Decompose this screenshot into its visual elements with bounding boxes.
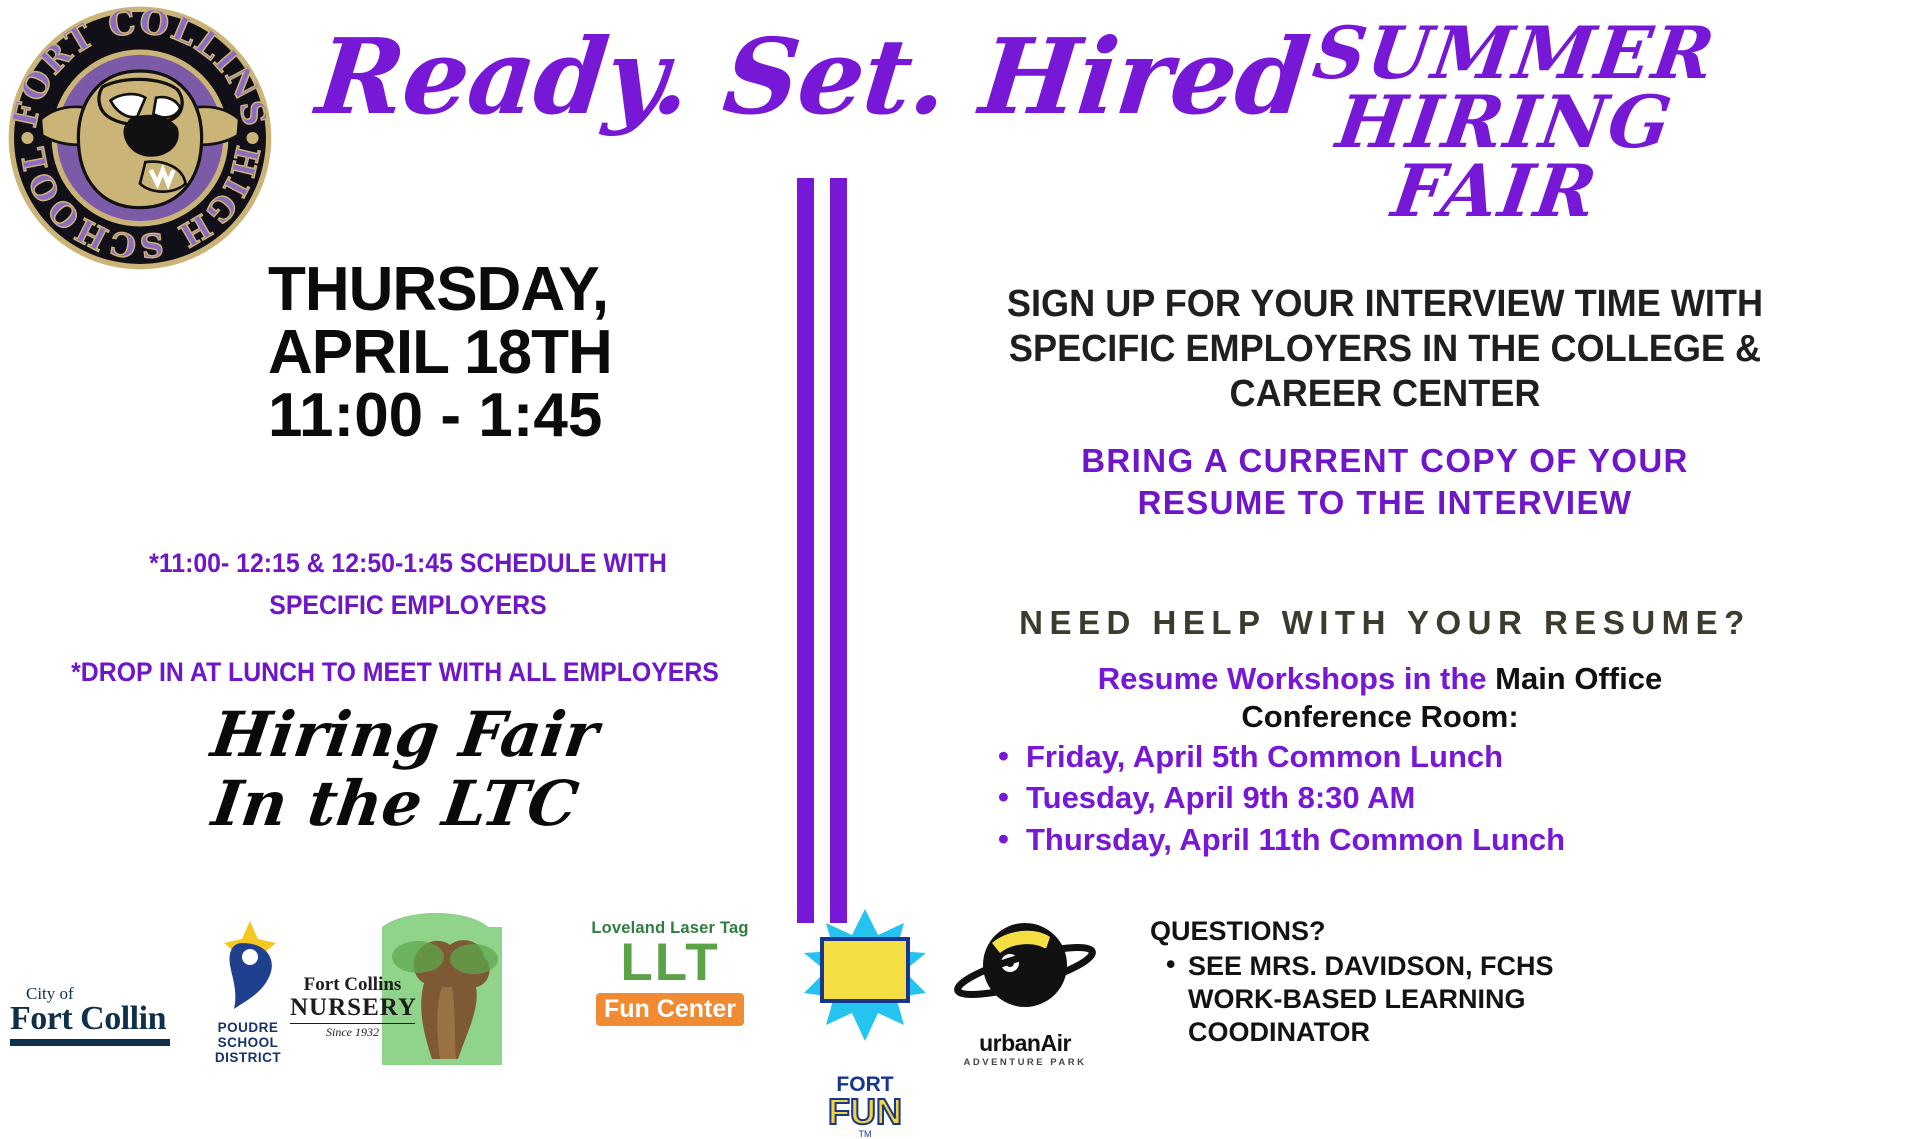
city-of-fort-collins-logo: City of Fort Collin bbox=[10, 985, 175, 1063]
event-title: SUMMER HIRING FAIR bbox=[1140, 18, 1869, 225]
schedule-note-line2: SPECIFIC EMPLOYERS bbox=[58, 585, 757, 627]
nursery-line3: Since 1932 bbox=[290, 1023, 415, 1040]
workshops-lead-black-line2: Conference Room: bbox=[980, 698, 1780, 736]
location-line1: Hiring Fair bbox=[160, 700, 650, 769]
workshops-lead-purple: Resume Workshops in the bbox=[1098, 661, 1495, 696]
list-item: Thursday, April 11th Common Lunch bbox=[1022, 819, 1780, 860]
bring-resume-line1: BRING A CURRENT COPY OF YOUR bbox=[890, 440, 1880, 482]
schedule-note: *11:00- 12:15 & 12:50-1:45 SCHEDULE WITH… bbox=[58, 543, 757, 627]
urban-air-adventure-park-logo: urbanAir ADVENTURE PARK bbox=[950, 915, 1100, 1065]
urban-air-planet-icon bbox=[950, 915, 1100, 1025]
poster-canvas: FORT COLLINS HIGH SCHOOL Ready. Set. Hir… bbox=[0, 0, 1920, 1080]
event-title-line2: FAIR bbox=[1140, 156, 1850, 225]
questions-list: SEE MRS. DAVIDSON, FCHS bbox=[1150, 950, 1770, 983]
workshops-lead: Resume Workshops in the Main Office Conf… bbox=[980, 660, 1780, 736]
location-line2: In the LTC bbox=[150, 769, 640, 838]
signup-instructions: SIGN UP FOR YOUR INTERVIEW TIME WITH SPE… bbox=[905, 282, 1865, 416]
dropin-note: *DROP IN AT LUNCH TO MEET WITH ALL EMPLO… bbox=[32, 655, 759, 690]
event-time: 11:00 - 1:45 bbox=[268, 384, 708, 447]
fort-fun-line2: FUN bbox=[800, 1095, 930, 1129]
fort-fun-starburst-icon bbox=[800, 909, 930, 1069]
event-day: THURSDAY, bbox=[268, 258, 708, 321]
psd-emblem-icon bbox=[198, 917, 298, 1013]
urban-air-line1: urbanAir bbox=[950, 1030, 1100, 1057]
questions-block: QUESTIONS? SEE MRS. DAVIDSON, FCHS WORK-… bbox=[1150, 915, 1770, 1049]
questions-heading: QUESTIONS? bbox=[1150, 915, 1770, 948]
nursery-logo-text: Fort Collins NURSERY Since 1932 bbox=[290, 975, 415, 1040]
llt-line2: LLT bbox=[570, 938, 770, 988]
city-logo-bar bbox=[10, 1039, 170, 1046]
urban-air-line2: ADVENTURE PARK bbox=[950, 1057, 1100, 1068]
location-script-block: Hiring Fair In the LTC bbox=[150, 700, 650, 839]
signup-line2: SPECIFIC EMPLOYERS IN THE COLLEGE & bbox=[905, 327, 1865, 372]
list-item: SEE MRS. DAVIDSON, FCHS bbox=[1188, 950, 1770, 983]
fort-fun-logo: FORT FUN TM bbox=[800, 909, 930, 1069]
questions-item-line3: COODINATOR bbox=[1150, 1016, 1770, 1049]
signup-line1: SIGN UP FOR YOUR INTERVIEW TIME WITH bbox=[905, 282, 1865, 327]
bring-resume-line2: RESUME TO THE INTERVIEW bbox=[890, 482, 1880, 524]
llt-line3: Fun Center bbox=[596, 993, 744, 1026]
bring-resume-callout: BRING A CURRENT COPY OF YOUR RESUME TO T… bbox=[890, 440, 1880, 524]
fort-collins-nursery-logo: Fort Collins NURSERY Since 1932 bbox=[290, 909, 505, 1069]
fort-collins-high-school-logo: FORT COLLINS HIGH SCHOOL bbox=[6, 4, 274, 272]
list-item: Tuesday, April 9th 8:30 AM bbox=[1022, 777, 1780, 818]
signup-line3: CAREER CENTER bbox=[905, 372, 1865, 417]
questions-item-line2: WORK-BASED LEARNING bbox=[1150, 983, 1770, 1016]
purple-divider-bar-left bbox=[797, 178, 814, 923]
event-date-time-block: THURSDAY, APRIL 18TH 11:00 - 1:45 bbox=[268, 258, 708, 448]
script-headline: Ready. Set. Hired bbox=[312, 22, 1103, 131]
workshops-lead-black-line1: Main Office bbox=[1495, 661, 1662, 696]
schedule-note-line1: *11:00- 12:15 & 12:50-1:45 SCHEDULE WITH bbox=[149, 548, 667, 578]
city-logo-line2: Fort Collin bbox=[10, 1002, 175, 1036]
questions-item-line1: SEE MRS. DAVIDSON, FCHS bbox=[1188, 951, 1554, 981]
event-title-line1: SUMMER HIRING bbox=[1150, 18, 1869, 156]
workshops-list: Friday, April 5th Common Lunch Tuesday, … bbox=[980, 736, 1780, 860]
fort-fun-tm: TM bbox=[800, 1129, 930, 1139]
resume-help-heading: NEED HELP WITH YOUR RESUME? bbox=[880, 605, 1890, 641]
event-date: APRIL 18TH bbox=[268, 321, 708, 384]
list-item: Friday, April 5th Common Lunch bbox=[1022, 736, 1780, 777]
resume-workshops-block: Resume Workshops in the Main Office Conf… bbox=[980, 660, 1780, 860]
purple-divider-bar-right bbox=[830, 178, 847, 923]
fort-fun-line1: FORT bbox=[800, 1074, 930, 1095]
loveland-laser-tag-logo: Loveland Laser Tag LLT Fun Center bbox=[570, 919, 770, 1069]
nursery-line2: NURSERY bbox=[290, 995, 415, 1021]
nursery-line1: Fort Collins bbox=[290, 975, 415, 995]
sponsor-logo-row: City of Fort Collin POUDRE SCHOOL DISTRI… bbox=[0, 905, 1080, 1080]
